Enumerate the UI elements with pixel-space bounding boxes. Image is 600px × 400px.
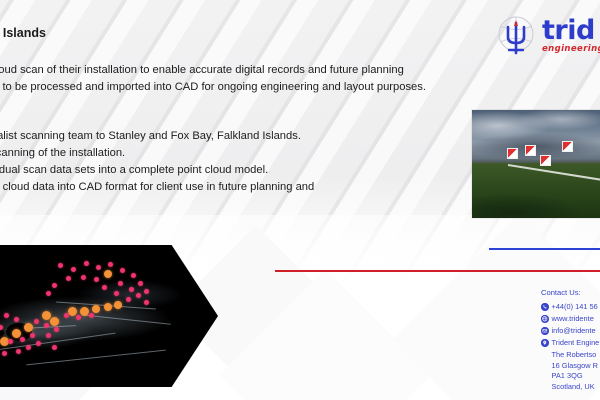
scan-position-marker [84, 261, 89, 266]
scan-position-marker [50, 317, 59, 326]
scan-position-marker [136, 293, 141, 298]
contact-block: Contact Us: +44(0) 141 56 www.tridente [541, 288, 600, 392]
scan-position-marker [12, 329, 21, 338]
scan-position-marker [34, 319, 39, 324]
scan-position-marker [89, 313, 94, 318]
address-line: Scotland, UK [552, 382, 600, 393]
divider-blue [489, 248, 600, 250]
contact-row-website[interactable]: www.tridente [541, 314, 600, 325]
scan-position-marker [46, 333, 51, 338]
photo-sky [472, 110, 600, 162]
scan-position-marker [44, 323, 49, 328]
trident-icon [494, 13, 538, 57]
survey-target-icon [525, 145, 536, 156]
scan-position-marker [68, 307, 77, 316]
scan-position-marker [108, 262, 113, 267]
scan-position-marker [138, 281, 143, 286]
scan-position-marker [94, 277, 99, 282]
site-photo-falkland-islands [472, 110, 600, 218]
scan-position-marker [66, 276, 71, 281]
page-title: d Survey – Falkland Islands [0, 26, 352, 40]
scan-position-marker [71, 267, 76, 272]
survey-target-icon [507, 148, 518, 159]
logo-tagline: engineering [542, 44, 600, 54]
slide-canvas: trid engineering d Survey – Falkland Isl… [0, 0, 600, 400]
scan-position-marker [104, 303, 112, 311]
scan-position-marker [104, 270, 112, 278]
scan-position-marker [120, 268, 125, 273]
divider-red [275, 270, 600, 272]
scan-position-marker [16, 349, 21, 354]
survey-target-icon [562, 141, 573, 152]
contact-website-text: www.tridente [552, 314, 594, 325]
scan-position-marker [144, 289, 149, 294]
email-icon [541, 327, 549, 335]
scan-position-marker [81, 275, 86, 280]
scan-position-marker [118, 281, 123, 286]
scan-position-marker [102, 285, 107, 290]
scan-position-marker [30, 333, 35, 338]
scan-position-marker [126, 297, 131, 302]
scan-position-marker [54, 327, 59, 332]
address-line: PA1 3QG [552, 371, 600, 382]
scan-position-marker [52, 283, 57, 288]
scan-position-marker [114, 301, 122, 309]
scan-position-marker [14, 317, 19, 322]
scan-position-marker [76, 315, 81, 320]
contact-phone-text: +44(0) 141 56 [552, 302, 598, 313]
contact-row-phone[interactable]: +44(0) 141 56 [541, 302, 600, 313]
scan-position-marker [80, 307, 89, 316]
contact-row-email[interactable]: info@tridente [541, 326, 600, 337]
scan-position-marker [131, 273, 136, 278]
scan-position-marker [58, 263, 63, 268]
section-heading: & Responsibilities [0, 110, 352, 122]
scan-position-marker [96, 265, 101, 270]
contact-row-address[interactable]: Trident Engine [541, 338, 600, 349]
globe-icon [541, 315, 549, 323]
contact-heading: Contact Us: [541, 288, 600, 299]
intro-line: uested a full 3D point cloud scan of the… [0, 62, 572, 79]
intro-paragraph: uested a full 3D point cloud scan of the… [0, 62, 572, 96]
scan-position-marker [36, 341, 41, 346]
survey-target-icon [540, 155, 551, 166]
scan-position-marker [20, 337, 25, 342]
scan-position-marker [8, 339, 13, 344]
contact-email-text: info@tridente [552, 326, 596, 337]
scan-position-marker [2, 351, 7, 356]
logo-wordmark: trid [542, 18, 600, 44]
scan-position-marker [52, 345, 57, 350]
scan-position-marker [24, 323, 33, 332]
scan-position-marker [92, 305, 100, 313]
scan-position-marker [26, 345, 31, 350]
contact-company-text: Trident Engine [552, 338, 600, 349]
intro-line: . The data was required to be processed … [0, 79, 572, 96]
point-cloud-scan-visualisation [0, 245, 218, 387]
scan-position-marker [46, 291, 51, 296]
scan-position-marker [114, 291, 119, 296]
scan-position-marker [144, 300, 149, 305]
address-line: The Robertso [552, 350, 600, 361]
address-line: 16 Glasgow R [552, 361, 600, 372]
location-icon [541, 339, 549, 347]
scan-position-marker [64, 313, 69, 318]
phone-icon [541, 303, 549, 311]
scan-position-marker [129, 287, 134, 292]
company-logo: trid engineering [494, 8, 600, 62]
scan-position-marker [4, 313, 9, 318]
photo-ground [472, 163, 600, 218]
